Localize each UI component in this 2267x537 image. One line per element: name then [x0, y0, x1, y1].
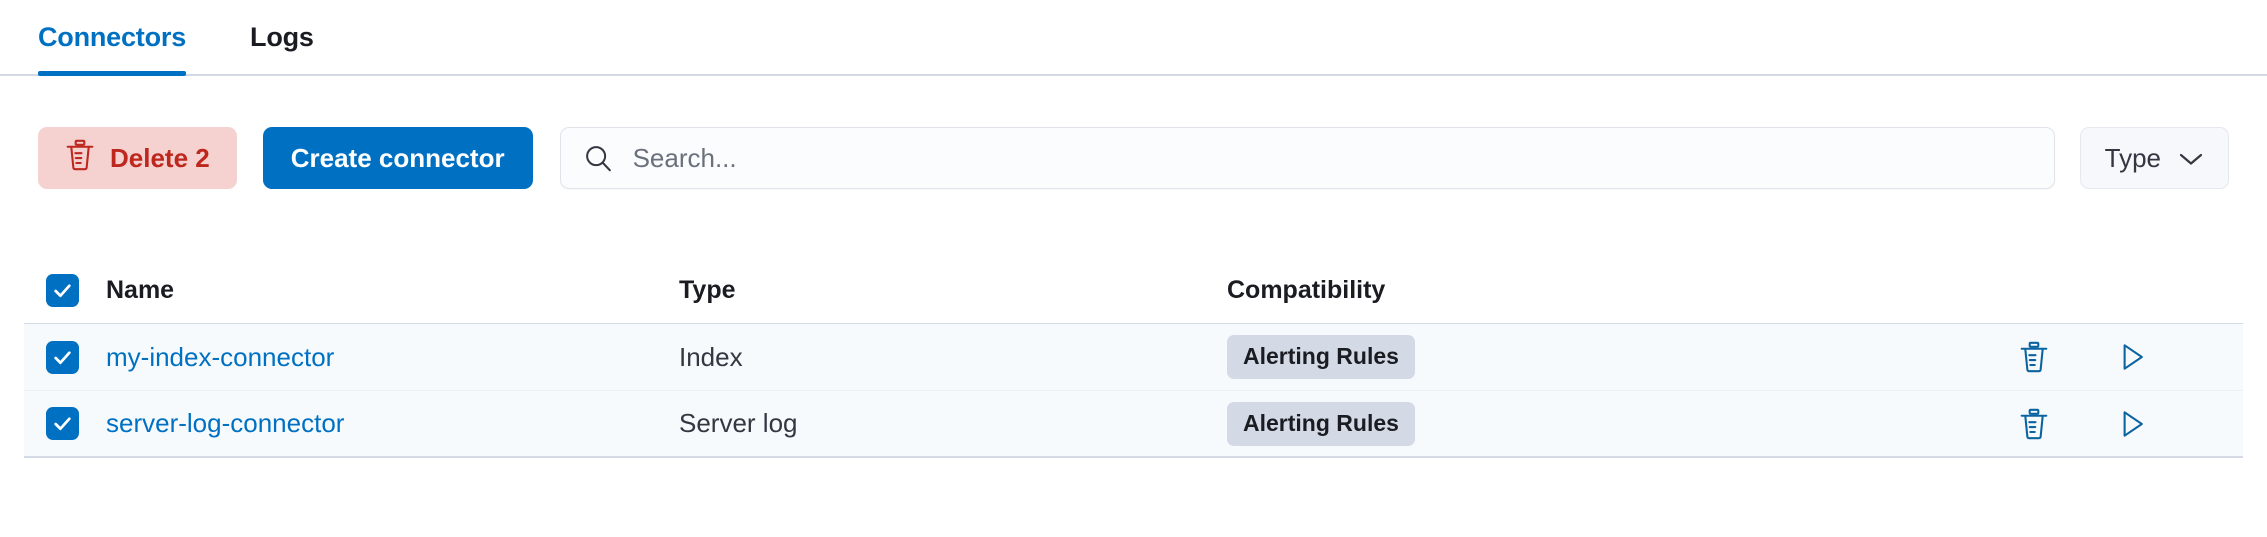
tab-connectors-label: Connectors: [38, 22, 186, 53]
tab-connectors[interactable]: Connectors: [38, 0, 204, 74]
row-actions: [1971, 408, 2221, 440]
connector-name-cell: my-index-connector: [79, 342, 679, 373]
connector-type-cell: Server log: [679, 408, 1227, 439]
create-connector-button[interactable]: Create connector: [263, 127, 533, 189]
connector-name-cell: server-log-connector: [79, 408, 679, 439]
type-filter-label: Type: [2105, 143, 2161, 174]
run-icon[interactable]: [2117, 408, 2147, 440]
toolbar: Delete 2 Create connector Type: [38, 127, 2229, 189]
row-checkbox[interactable]: [46, 341, 79, 374]
type-filter-button[interactable]: Type: [2080, 127, 2229, 189]
delete-icon[interactable]: [2019, 408, 2049, 440]
connector-compatibility-cell: Alerting Rules: [1227, 335, 1971, 379]
search-input[interactable]: [633, 128, 2032, 188]
compatibility-badge: Alerting Rules: [1227, 402, 1415, 446]
tab-logs-label: Logs: [250, 22, 314, 53]
chevron-down-icon: [2178, 143, 2204, 174]
compatibility-badge: Alerting Rules: [1227, 335, 1415, 379]
row-actions: [1971, 341, 2221, 373]
create-connector-label: Create connector: [291, 143, 505, 174]
tab-logs[interactable]: Logs: [232, 0, 332, 74]
select-all-checkbox[interactable]: [46, 274, 79, 307]
connectors-table: Name Type Compatibility my-index-connect…: [24, 258, 2243, 458]
row-checkbox[interactable]: [46, 407, 79, 440]
table-header-row: Name Type Compatibility: [24, 258, 2243, 324]
delete-button[interactable]: Delete 2: [38, 127, 237, 189]
connector-name-link[interactable]: my-index-connector: [106, 342, 334, 372]
search-box[interactable]: [560, 127, 2055, 189]
delete-button-label: Delete 2: [110, 143, 210, 174]
column-header-compatibility[interactable]: Compatibility: [1227, 276, 1971, 305]
table-row[interactable]: my-index-connector Index Alerting Rules: [24, 324, 2243, 391]
connector-type-cell: Index: [679, 342, 1227, 373]
connector-compatibility-cell: Alerting Rules: [1227, 402, 1971, 446]
search-icon: [583, 143, 613, 173]
column-header-name[interactable]: Name: [79, 276, 679, 305]
column-header-type[interactable]: Type: [679, 276, 1227, 305]
run-icon[interactable]: [2117, 341, 2147, 373]
table-row[interactable]: server-log-connector Server log Alerting…: [24, 391, 2243, 458]
connector-name-link[interactable]: server-log-connector: [106, 408, 344, 438]
tab-bar: Connectors Logs: [0, 0, 2267, 76]
trash-icon: [65, 139, 95, 178]
delete-icon[interactable]: [2019, 341, 2049, 373]
connectors-page: Connectors Logs Delete 2 Create conne: [0, 0, 2267, 537]
